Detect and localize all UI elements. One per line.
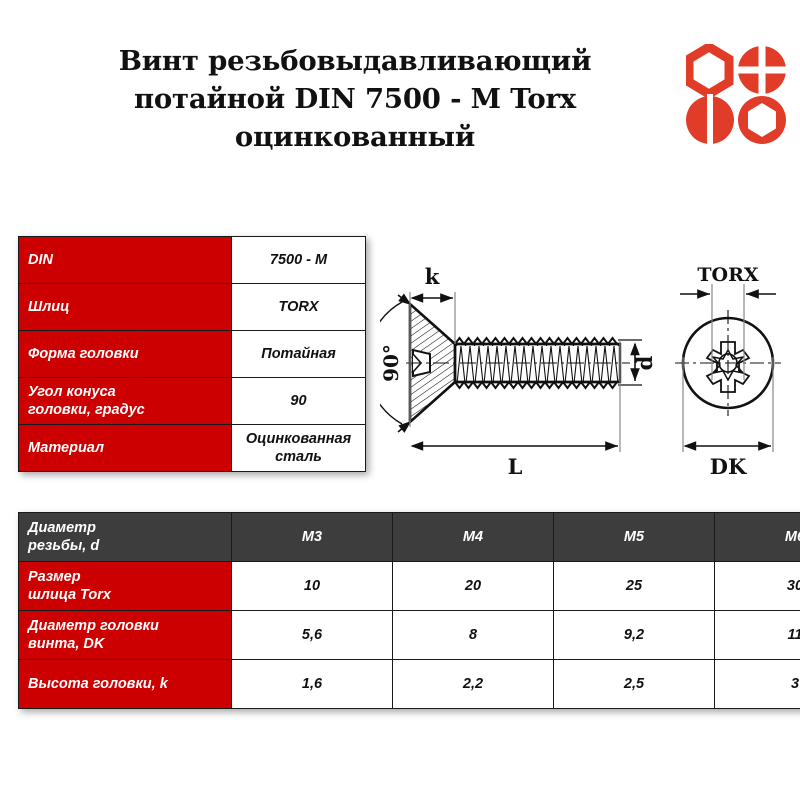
dim-label-torx-size-line-1: Размер	[28, 569, 81, 585]
spec-value-drive: TORX	[232, 284, 366, 331]
spec-label-cone-angle-line-2: головки, градус	[28, 402, 145, 418]
hex-socket-icon	[738, 96, 786, 144]
dim-label-head-height: Высота головки, k	[19, 660, 232, 709]
dim-value-torx-size-m4: 20	[393, 562, 554, 611]
screw-head-end-view: TORX DK	[675, 264, 781, 479]
dim-label-head-diameter-line-2: винта, DK	[28, 636, 104, 652]
dim-label-head-diameter: Диаметр головки винта, DK	[19, 611, 232, 660]
slotted-head-icon	[686, 94, 734, 144]
table-row: Материал Оцинкованная сталь	[19, 425, 366, 472]
spec-value-head-shape: Потайная	[232, 331, 366, 378]
dim-column-header-m5: M5	[554, 513, 715, 562]
dim-value-torx-size-m3: 10	[232, 562, 393, 611]
spec-value-material-line-2: сталь	[275, 449, 322, 465]
dim-value-head-diameter-m6: 11	[715, 611, 800, 660]
dim-value-head-height-m5: 2,5	[554, 660, 715, 709]
table-row: Форма головки Потайная	[19, 331, 366, 378]
dim-value-head-height-m4: 2,2	[393, 660, 554, 709]
specification-table: DIN 7500 - M Шлиц TORX Форма головки Пот…	[18, 236, 366, 472]
dim-label-torx-size-line-2: шлица Torx	[28, 587, 111, 603]
countersunk-screw-side-view: 90° k d L	[380, 264, 657, 479]
spec-label-din: DIN	[19, 237, 232, 284]
fastener-logo	[686, 44, 786, 144]
page-title-line-2: потайной DIN 7500 - M Torx	[40, 80, 670, 118]
table-row: Диаметр головки винта, DK 5,6 8 9,2 11	[19, 611, 800, 660]
hex-nut-icon	[689, 47, 729, 94]
dim-label-angle: 90°	[380, 344, 403, 382]
table-row: DIN 7500 - M	[19, 237, 366, 284]
dim-column-header-m3: M3	[232, 513, 393, 562]
dim-label-d: d	[632, 355, 657, 370]
dim-header-thread-diameter: Диаметр резьбы, d	[19, 513, 232, 562]
spec-label-cone-angle-line-1: Угол конуса	[28, 384, 116, 400]
table-row: Угол конуса головки, градус 90	[19, 378, 366, 425]
spec-label-head-shape: Форма головки	[19, 331, 232, 378]
dim-label-k: k	[425, 264, 440, 289]
dimension-table: Диаметр резьбы, d M3 M4 M5 M6 Размер шли…	[18, 512, 800, 709]
dim-label-head-diameter-line-1: Диаметр головки	[28, 618, 159, 634]
table-header-row: Диаметр резьбы, d M3 M4 M5 M6	[19, 513, 800, 562]
table-row: Шлиц TORX	[19, 284, 366, 331]
dim-value-head-diameter-m4: 8	[393, 611, 554, 660]
dim-column-header-m6: M6	[715, 513, 800, 562]
page-header: Винт резьбовыдавливающий потайной DIN 75…	[0, 0, 800, 200]
dim-column-header-m4: M4	[393, 513, 554, 562]
dim-value-head-diameter-m3: 5,6	[232, 611, 393, 660]
spec-value-material: Оцинкованная сталь	[232, 425, 366, 472]
table-row: Размер шлица Torx 10 20 25 30	[19, 562, 800, 611]
dim-value-head-diameter-m5: 9,2	[554, 611, 715, 660]
dim-value-head-height-m3: 1,6	[232, 660, 393, 709]
spec-label-drive: Шлиц	[19, 284, 232, 331]
dim-value-head-height-m6: 3	[715, 660, 800, 709]
page-title-line-1: Винт резьбовыдавливающий	[40, 42, 670, 80]
page-title-line-3: оцинкованный	[40, 118, 670, 156]
spec-value-din: 7500 - M	[232, 237, 366, 284]
dim-header-label-line-2: резьбы, d	[28, 538, 99, 554]
dim-label-dk: DK	[710, 454, 747, 479]
dim-label-torx: TORX	[697, 264, 758, 286]
table-row: Высота головки, k 1,6 2,2 2,5 3	[19, 660, 800, 709]
spec-label-material: Материал	[19, 425, 232, 472]
dim-header-label-line-1: Диаметр	[28, 520, 96, 536]
dim-label-L: L	[508, 454, 523, 479]
dim-value-torx-size-m5: 25	[554, 562, 715, 611]
spec-label-cone-angle: Угол конуса головки, градус	[19, 378, 232, 425]
spec-value-material-line-1: Оцинкованная	[246, 431, 351, 447]
page-title: Винт резьбовыдавливающий потайной DIN 75…	[40, 42, 670, 156]
technical-drawing: 90° k d L	[380, 262, 790, 497]
dim-label-torx-size: Размер шлица Torx	[19, 562, 232, 611]
phillips-head-icon	[736, 44, 786, 96]
dim-value-torx-size-m6: 30	[715, 562, 800, 611]
spec-value-cone-angle: 90	[232, 378, 366, 425]
